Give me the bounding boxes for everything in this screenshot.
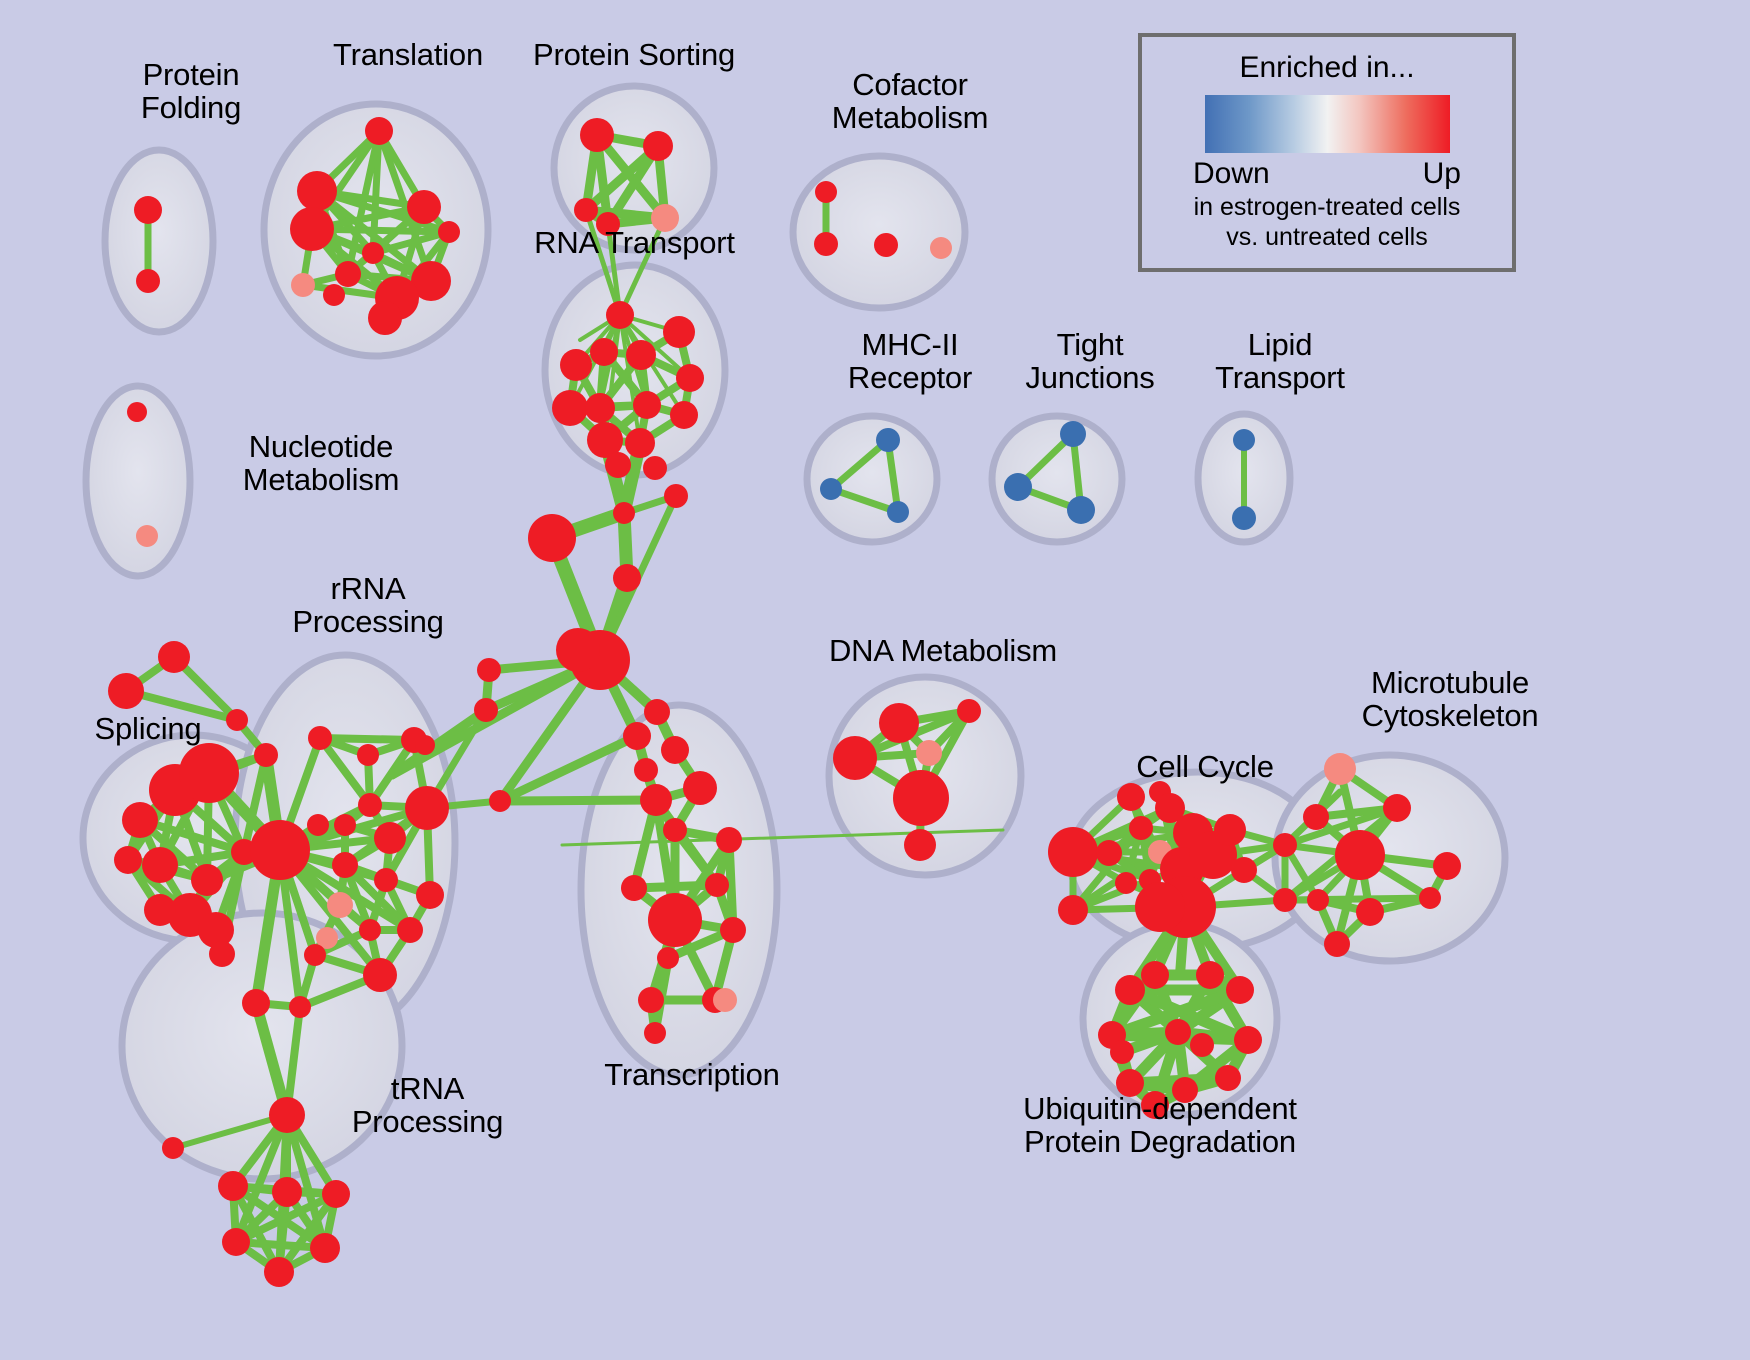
node	[290, 207, 334, 251]
node	[218, 1171, 248, 1201]
node	[397, 917, 423, 943]
cluster-label-trna-processing: tRNA Processing	[320, 1072, 535, 1139]
node	[613, 564, 641, 592]
cluster-label-cell-cycle: Cell Cycle	[1105, 750, 1305, 783]
node	[362, 242, 384, 264]
legend-high-label: Up	[1423, 157, 1461, 191]
node	[1196, 961, 1224, 989]
node	[643, 456, 667, 480]
blob-protein-folding	[105, 150, 213, 332]
node	[1324, 931, 1350, 957]
node	[122, 802, 158, 838]
node	[405, 786, 449, 830]
node	[209, 941, 235, 967]
node	[552, 390, 588, 426]
node	[242, 989, 270, 1017]
node	[580, 118, 614, 152]
node	[357, 744, 379, 766]
node	[142, 847, 178, 883]
node	[1165, 1019, 1191, 1045]
node	[1060, 421, 1086, 447]
node	[1115, 872, 1137, 894]
node	[556, 628, 600, 672]
node	[879, 703, 919, 743]
node	[560, 349, 592, 381]
node	[1214, 814, 1246, 846]
node	[297, 171, 337, 211]
node	[1233, 429, 1255, 451]
node	[1117, 783, 1145, 811]
cluster-label-translation: Translation	[298, 38, 518, 71]
node	[254, 743, 278, 767]
legend-caption-line2: vs. untreated cells	[1226, 223, 1428, 251]
legend-color-bar	[1205, 95, 1450, 153]
node	[1048, 827, 1098, 877]
node	[1433, 852, 1461, 880]
node	[1335, 830, 1385, 880]
enrichment-map-figure: Protein Folding Translation Protein Sort…	[0, 0, 1750, 1360]
node	[705, 873, 729, 897]
cluster-label-lipid-transport: Lipid Transport	[1175, 328, 1385, 395]
node	[893, 770, 949, 826]
node	[1273, 888, 1297, 912]
node	[304, 944, 326, 966]
node	[416, 881, 444, 909]
node	[374, 868, 398, 892]
node	[144, 894, 176, 926]
cluster-label-microtubule: Microtubule Cytoskeleton	[1310, 666, 1590, 733]
node	[1307, 889, 1329, 911]
node	[664, 484, 688, 508]
node	[250, 820, 310, 880]
node	[136, 525, 158, 547]
node	[720, 917, 746, 943]
node	[407, 190, 441, 224]
node	[489, 790, 511, 812]
node	[528, 514, 576, 562]
node	[136, 269, 160, 293]
node	[815, 181, 837, 203]
node	[876, 428, 900, 452]
node	[1115, 975, 1145, 1005]
cluster-label-dna-metabolism: DNA Metabolism	[818, 634, 1068, 667]
cluster-label-rna-transport: RNA Transport	[512, 226, 757, 259]
node	[644, 699, 670, 725]
node	[621, 875, 647, 901]
node	[676, 364, 704, 392]
node	[640, 784, 672, 816]
node	[590, 338, 618, 366]
node	[1231, 857, 1257, 883]
node	[613, 502, 635, 524]
node	[127, 402, 147, 422]
node	[222, 1228, 250, 1256]
node	[626, 340, 656, 370]
node	[108, 673, 144, 709]
node	[638, 987, 664, 1013]
legend-title: Enriched in...	[1239, 51, 1414, 85]
node	[1135, 882, 1185, 932]
node	[134, 196, 162, 224]
node	[683, 771, 717, 805]
node	[585, 393, 615, 423]
node	[644, 1022, 666, 1044]
node	[359, 919, 381, 941]
node	[625, 428, 655, 458]
node	[1232, 506, 1256, 530]
node	[358, 793, 382, 817]
node	[930, 237, 952, 259]
node	[574, 198, 598, 222]
node	[1226, 976, 1254, 1004]
node	[291, 273, 315, 297]
node	[179, 743, 239, 803]
node	[1067, 496, 1095, 524]
cluster-label-cofactor-metabolism: Cofactor Metabolism	[790, 68, 1030, 135]
node	[833, 736, 877, 780]
node	[643, 131, 673, 161]
node	[264, 1257, 294, 1287]
node	[307, 814, 329, 836]
node	[1096, 840, 1122, 866]
node	[814, 232, 838, 256]
node	[323, 284, 345, 306]
node	[887, 501, 909, 523]
node	[1324, 753, 1356, 785]
node	[322, 1180, 350, 1208]
cluster-label-protein-folding: Protein Folding	[86, 58, 296, 125]
node	[670, 401, 698, 429]
node	[114, 846, 142, 874]
node	[310, 1233, 340, 1263]
node	[289, 996, 311, 1018]
node	[335, 261, 361, 287]
node	[332, 852, 358, 878]
node	[1234, 1026, 1262, 1054]
node	[1141, 961, 1169, 989]
node	[191, 864, 223, 896]
node	[363, 958, 397, 992]
node	[957, 699, 981, 723]
legend-low-label: Down	[1193, 157, 1270, 191]
node	[606, 301, 634, 329]
node	[158, 641, 190, 673]
node	[916, 740, 942, 766]
node	[334, 814, 356, 836]
node	[605, 452, 631, 478]
node	[374, 822, 406, 854]
node	[661, 736, 689, 764]
node	[1383, 794, 1411, 822]
node	[368, 301, 402, 335]
node	[904, 829, 936, 861]
legend-endpoints: Down Up	[1193, 157, 1461, 191]
node	[1110, 1040, 1134, 1064]
node	[1215, 1065, 1241, 1091]
node	[1419, 887, 1441, 909]
node	[477, 658, 501, 682]
node	[874, 233, 898, 257]
node	[1004, 473, 1032, 501]
node	[308, 726, 332, 750]
node	[474, 698, 498, 722]
cluster-label-splicing: Splicing	[58, 712, 238, 745]
node	[415, 735, 435, 755]
blob-cofactor	[793, 156, 965, 308]
node	[820, 478, 842, 500]
node	[648, 893, 702, 947]
node	[438, 221, 460, 243]
node	[365, 117, 393, 145]
cluster-label-nucleotide-metabolism: Nucleotide Metabolism	[196, 430, 446, 497]
cluster-label-tight-junctions: Tight Junctions	[985, 328, 1195, 395]
node	[272, 1177, 302, 1207]
node	[327, 892, 353, 918]
node	[1190, 1033, 1214, 1057]
node	[623, 722, 651, 750]
node	[1058, 895, 1088, 925]
node	[663, 818, 687, 842]
node	[1356, 898, 1384, 926]
node	[1129, 816, 1153, 840]
node	[663, 316, 695, 348]
node	[1273, 833, 1297, 857]
legend-caption-line1: in estrogen-treated cells	[1194, 193, 1461, 221]
cluster-label-transcription: Transcription	[572, 1058, 812, 1091]
node	[1303, 804, 1329, 830]
legend-box: Enriched in... Down Up in estrogen-treat…	[1138, 33, 1516, 272]
node	[716, 827, 742, 853]
cluster-label-rrna-processing: rRNA Processing	[258, 572, 478, 639]
node	[634, 758, 658, 782]
node	[657, 947, 679, 969]
cluster-label-ubiquitin: Ubiquitin-dependent Protein Degradation	[995, 1092, 1325, 1159]
node	[633, 391, 661, 419]
node	[713, 988, 737, 1012]
cluster-label-protein-sorting: Protein Sorting	[504, 38, 764, 71]
node	[162, 1137, 184, 1159]
node	[269, 1097, 305, 1133]
